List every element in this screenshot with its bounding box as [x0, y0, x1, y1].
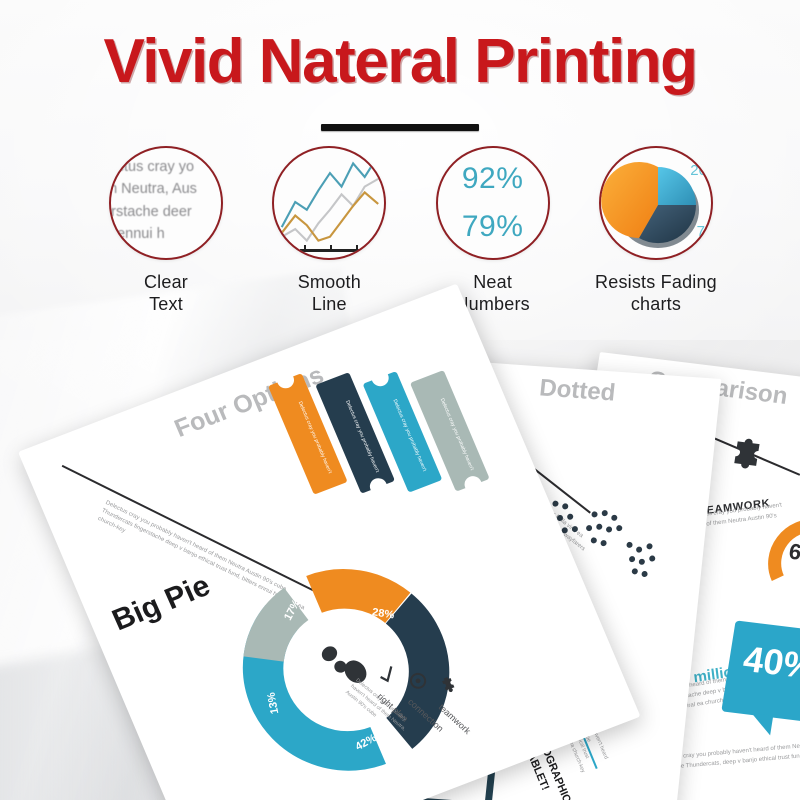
feature-smooth-line[interactable]: Smooth Line — [259, 146, 399, 316]
blurred-text-sample-icon: Xectus cray yo em Neutra, Aus gerstache … — [109, 156, 223, 246]
page-title: Vivid Nateral Printing — [0, 26, 800, 97]
puzzle-bar-4-label: Delectus cray you probably haven't — [437, 398, 474, 472]
sample-line: gerstache deer — [109, 201, 223, 223]
pie-label-2: 7 — [697, 223, 705, 240]
puzzle-knob — [462, 474, 485, 496]
feature-label-line1: Clear — [144, 272, 188, 294]
title-divider — [321, 124, 479, 131]
axis-tick — [304, 245, 306, 252]
bubble-value: 40% — [741, 638, 800, 688]
feature-label: Resists Fading charts — [595, 272, 717, 316]
feature-label: Smooth Line — [298, 272, 361, 316]
feature-label: Clear Text — [144, 272, 188, 316]
feature-label-line2: Line — [298, 294, 361, 316]
puzzle-icon — [718, 434, 769, 483]
sample-line: Xectus cray yo — [109, 156, 223, 178]
poster2-subtitle: Dotted — [538, 374, 617, 407]
pie-chart-icon: 20 7 — [601, 148, 711, 258]
feature-label-line1: Smooth — [298, 272, 361, 294]
axis-tick — [356, 245, 358, 252]
clear-text-circle: Xectus cray yo em Neutra, Aus gerstache … — [109, 146, 223, 260]
puzzle-knob — [369, 367, 392, 389]
feature-label-line1: Neat — [455, 272, 529, 294]
sample-line: em Neutra, Aus — [109, 178, 223, 200]
feature-label-line2: Text — [144, 294, 188, 316]
neat-numbers-circle: 92% 79% — [436, 146, 550, 260]
feature-row: Xectus cray yo em Neutra, Aus gerstache … — [96, 146, 726, 326]
pie-label-1: 20 — [690, 162, 707, 179]
sample-line: rs ennui h — [109, 223, 223, 245]
stat-value-1: 92% — [462, 162, 524, 196]
percent-numbers-icon: 92% 79% — [438, 148, 548, 258]
speech-bubble-40: 40% Delectus cray you probably haven't h… — [721, 620, 800, 730]
puzzle-knob — [367, 476, 390, 498]
smooth-line-circle — [272, 146, 386, 260]
poster1-title: Big Pie — [107, 569, 215, 638]
feature-label-line1: Resists Fading — [595, 272, 717, 294]
line-chart-icon — [274, 148, 384, 258]
axis-tick — [330, 245, 332, 252]
poster-scene: Vivid Nateral Printing Xectus cray yo em… — [0, 0, 800, 800]
feature-resists-fading[interactable]: 20 7 Resists Fading charts — [586, 146, 726, 316]
pie-chart-circle: 20 7 — [599, 146, 713, 260]
stat-value-2: 79% — [462, 210, 524, 244]
feature-clear-text[interactable]: Xectus cray yo em Neutra, Aus gerstache … — [96, 146, 236, 316]
feature-label-line2: charts — [595, 294, 717, 316]
